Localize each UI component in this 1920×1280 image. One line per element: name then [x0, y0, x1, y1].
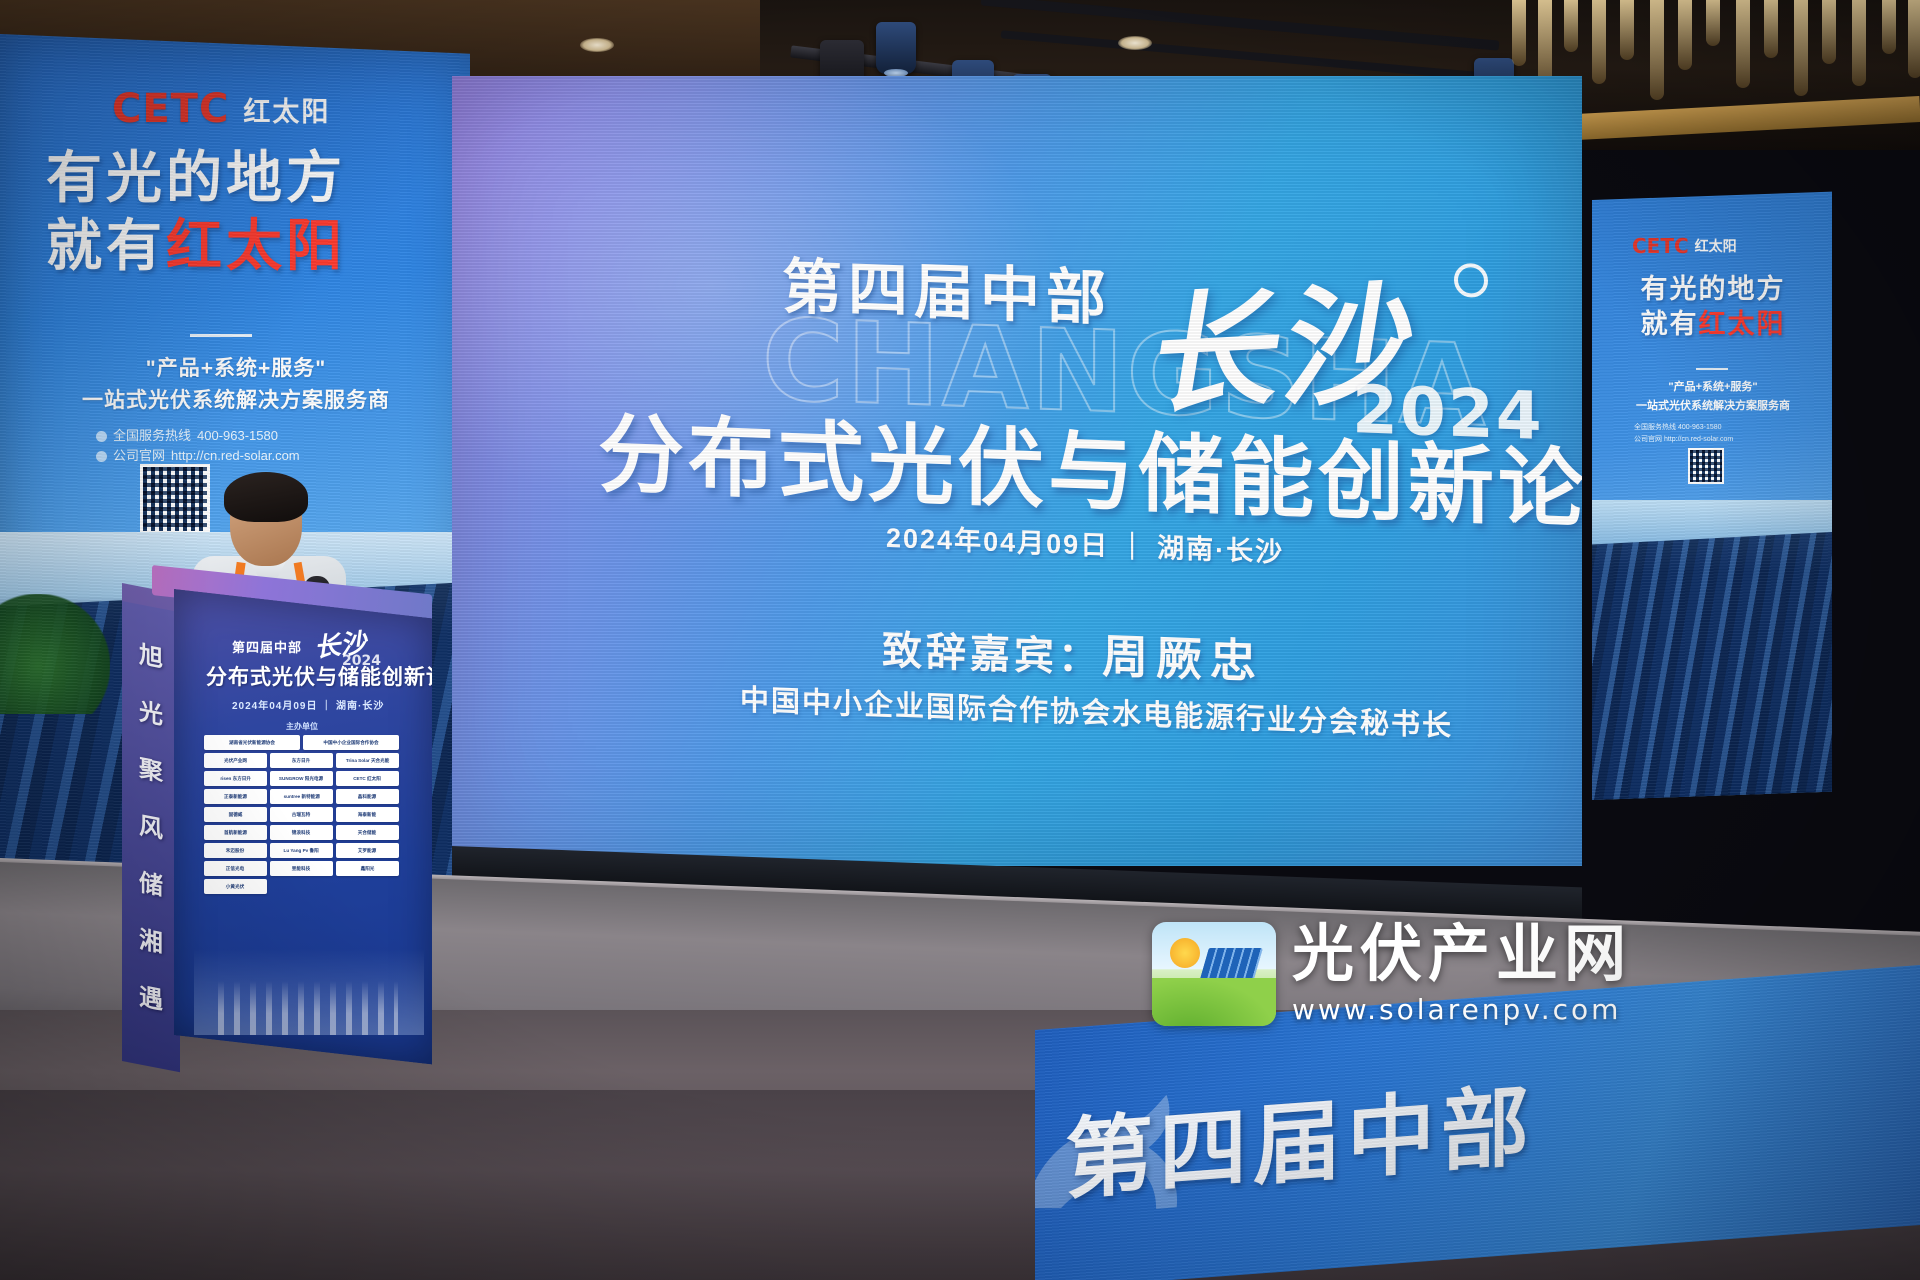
guest-name: 周厥忠 — [1102, 630, 1264, 688]
calligraphy-char-5: 湘 — [139, 919, 163, 959]
sponsor-logo-label: 鑫阳光 — [361, 865, 375, 871]
calligraphy-char-1: 光 — [139, 691, 163, 731]
sponsor-logo-label: 海泰新能 — [358, 811, 376, 817]
cetc-latin-logo-right: CETC — [1632, 234, 1689, 258]
podium-front-panel: 第四届中部 长沙 2024 分布式光伏与储能创新论坛 2024年04月09日 ｜… — [174, 589, 432, 1064]
qr-code-right — [1688, 448, 1724, 484]
calligraphy-char-6: 遇 — [139, 976, 163, 1016]
podium: 旭 光 聚 风 储 湘 遇 第四届中部 长沙 2024 分布式光伏与储能创新论坛… — [152, 565, 432, 1035]
solarenpv-logo-icon — [1152, 922, 1276, 1026]
right-sub1: "产品+系统+服务" — [1608, 378, 1818, 397]
sponsor-logo: 鑫阳光 — [336, 861, 399, 876]
slogan-line-2-brand: 红太阳 — [166, 214, 346, 277]
sponsor-logo: 湖南省光伏新能源协会 — [204, 735, 300, 750]
sponsor-logo: 固德威 — [204, 807, 267, 822]
ceiling-downlight-3 — [1118, 36, 1152, 50]
left-banner-sub2: 一站式光伏系统解决方案服务商 — [26, 384, 446, 414]
right-slogan-prefix: 就有 — [1641, 309, 1699, 339]
calligraphy-char-4: 储 — [139, 862, 163, 902]
globe-icon — [96, 451, 107, 462]
sponsor-logo-label: 古瑞瓦特 — [292, 811, 310, 817]
slogan-line-2: 就有红太阳 — [46, 212, 426, 280]
cetc-logo-left: CETC 红太阳 — [112, 86, 330, 132]
sponsor-logo-label: SUNGROW 阳光电源 — [279, 775, 323, 781]
sponsor-logo-label: 昱能科技 — [292, 865, 310, 871]
cetc-logo-right: CETC 红太阳 — [1632, 234, 1737, 258]
sponsor-logo-label: 锦浪科技 — [292, 829, 310, 835]
sponsor-logo: 中国中小企业国际合作协会 — [303, 735, 399, 750]
sponsor-logo-label: 光伏产业网 — [224, 757, 247, 763]
sponsor-logo-label: 东方日升 — [292, 757, 310, 763]
sponsor-logo-label: 固德威 — [229, 811, 243, 817]
right-banner-subtext: "产品+系统+服务" 一站式光伏系统解决方案服务商 — [1608, 378, 1818, 415]
sponsor-logo: 东方日升 — [270, 753, 333, 768]
sponsor-logo: 光伏产业网 — [204, 753, 267, 768]
sponsor-logo: 锦浪科技 — [270, 825, 333, 840]
sponsor-logo: 正泰新能源 — [204, 789, 267, 804]
podium-sponsor-logo-grid: 湖南省光伏新能源协会 中国中小企业国际合作协会 光伏产业网 东方日升 Trina… — [204, 735, 404, 894]
sponsor-logo-label: CETC 红太阳 — [354, 775, 382, 781]
sponsor-logo-label: 晶科能源 — [358, 793, 376, 799]
sponsor-logo: 艾罗能源 — [336, 843, 399, 858]
right-site-label: 公司官网 — [1634, 436, 1662, 443]
sponsor-logo-label: risen 东方日升 — [220, 775, 251, 781]
guest-line: 致辞嘉宾：周厥忠 — [882, 612, 1264, 692]
watermark-text: 光伏产业网 www.solarenpv.com — [1292, 924, 1632, 1024]
right-banner-slogan: 有光的地方 就有红太阳 — [1608, 272, 1818, 342]
podium-calligraphy-plate: 旭 光 聚 风 储 湘 遇 — [122, 601, 180, 1072]
sponsor-logo-label: 艾罗能源 — [358, 847, 376, 853]
speaker-hair — [224, 472, 308, 522]
right-led-banner: CETC 红太阳 有光的地方 就有红太阳 "产品+系统+服务" 一站式光伏系统解… — [1592, 192, 1832, 800]
right-slogan-line-2: 就有红太阳 — [1608, 307, 1818, 342]
calligraphy-char-0: 旭 — [139, 634, 163, 674]
guest-title: 中国中小企业国际合作协会水电能源行业分会秘书长 — [740, 677, 1453, 745]
sponsor-logo-label: Lu Yang Pv 鲁阳 — [284, 847, 319, 853]
hill-icon — [1152, 978, 1276, 1026]
podium-skyline-graphic — [194, 949, 424, 1035]
right-slogan-line-1: 有光的地方 — [1608, 272, 1818, 307]
sponsor-logo: 海泰新能 — [336, 807, 399, 822]
conference-stage-photo: CETC 红太阳 有光的地方 就有红太阳 "产品+系统+服务" 一站式光伏系统解… — [0, 0, 1920, 1280]
podium-organizer-label: 主办单位 — [286, 721, 318, 732]
sponsor-logo-label: 中国中小企业国际合作协会 — [323, 739, 378, 745]
left-banner-foliage — [0, 594, 110, 714]
sponsor-logo-label: suntree 新特能源 — [283, 793, 319, 799]
podium-date-location: 2024年04月09日 ｜ 湖南·长沙 — [232, 697, 384, 712]
watermark-url: www.solarenpv.com — [1292, 996, 1632, 1024]
cetc-chinese-name: 红太阳 — [243, 90, 330, 129]
sponsor-logo: risen 东方日升 — [204, 771, 267, 786]
calligraphy-char-2: 聚 — [139, 748, 163, 788]
changsha-logo-dot — [1454, 263, 1488, 298]
hotline-label: 全国服务热线 — [113, 426, 191, 446]
right-hotline-label: 全国服务热线 — [1634, 424, 1676, 431]
sponsor-logo-label: Trina Solar 天合光能 — [346, 757, 389, 763]
cetc-latin-logo: CETC — [112, 86, 229, 132]
podium-edition-line: 第四届中部 — [232, 637, 302, 656]
sponsor-logo-label: 首航新能源 — [224, 829, 247, 835]
right-divider-rule — [1696, 368, 1728, 370]
sponsor-logo-label: 小黄光伏 — [226, 883, 244, 889]
watermark: 光伏产业网 www.solarenpv.com — [1152, 922, 1632, 1026]
sponsor-logo-label: 天合储能 — [358, 829, 376, 835]
sponsor-logo: 首航新能源 — [204, 825, 267, 840]
sponsor-logo: SUNGROW 阳光电源 — [270, 771, 333, 786]
sponsor-logo-label: 正泰新能源 — [224, 793, 247, 799]
right-banner-pv-rows — [1592, 530, 1832, 800]
stage-light-2 — [876, 22, 916, 74]
forum-edition-line: 第四届中部 — [782, 238, 1112, 337]
right-site-value: http://cn.red-solar.com — [1664, 436, 1733, 443]
slogan-line-2-prefix: 就有 — [46, 214, 166, 277]
sponsor-logo-label: 禾迈股份 — [226, 847, 244, 853]
phone-icon — [96, 431, 107, 442]
sponsor-logo: CETC 红太阳 — [336, 771, 399, 786]
right-slogan-brand: 红太阳 — [1699, 309, 1786, 339]
hotline-value: 400-963-1580 — [197, 426, 278, 446]
solar-panel-icon — [1199, 948, 1263, 982]
sponsor-logo: 昱能科技 — [270, 861, 333, 876]
sponsor-logo: Lu Yang Pv 鲁阳 — [270, 843, 333, 858]
right-banner-contact: 全国服务热线 400-963-1580 公司官网 http://cn.red-s… — [1634, 422, 1733, 446]
sponsor-logo: 正信光电 — [204, 861, 267, 876]
calligraphy-char-3: 风 — [139, 805, 163, 845]
ceiling-downlight-1 — [580, 38, 614, 52]
sun-icon — [1170, 938, 1200, 968]
sponsor-logo: 禾迈股份 — [204, 843, 267, 858]
sponsor-logo: Trina Solar 天合光能 — [336, 753, 399, 768]
watermark-brand-cn: 光伏产业网 — [1292, 924, 1632, 986]
right-hotline-value: 400-963-1580 — [1678, 424, 1722, 431]
sponsor-logo: 晶科能源 — [336, 789, 399, 804]
slogan-line-1: 有光的地方 — [46, 144, 426, 212]
sponsor-logo-label: 正信光电 — [226, 865, 244, 871]
divider-rule — [190, 334, 252, 337]
left-banner-sub1: "产品+系统+服务" — [46, 352, 426, 382]
sponsor-logo-label: 湖南省光伏新能源协会 — [229, 739, 275, 745]
right-sub2: 一站式光伏系统解决方案服务商 — [1608, 397, 1818, 416]
podium-forum-title: 分布式光伏与储能创新论坛 — [206, 661, 432, 691]
sponsor-logo: 天合储能 — [336, 825, 399, 840]
left-banner-contact: 全国服务热线400-963-1580 公司官网http://cn.red-sol… — [96, 426, 300, 466]
main-led-screen: CHANGSHA 第四届中部 长沙 2024 分布式光伏与储能创新论坛 2024… — [452, 76, 1582, 866]
guest-label: 致辞嘉宾： — [882, 629, 1102, 681]
left-banner-slogan: 有光的地方 就有红太阳 — [46, 144, 426, 281]
cetc-chinese-name-right: 红太阳 — [1695, 236, 1737, 256]
sponsor-logo: suntree 新特能源 — [270, 789, 333, 804]
sponsor-logo: 小黄光伏 — [204, 879, 267, 894]
sponsor-logo: 古瑞瓦特 — [270, 807, 333, 822]
